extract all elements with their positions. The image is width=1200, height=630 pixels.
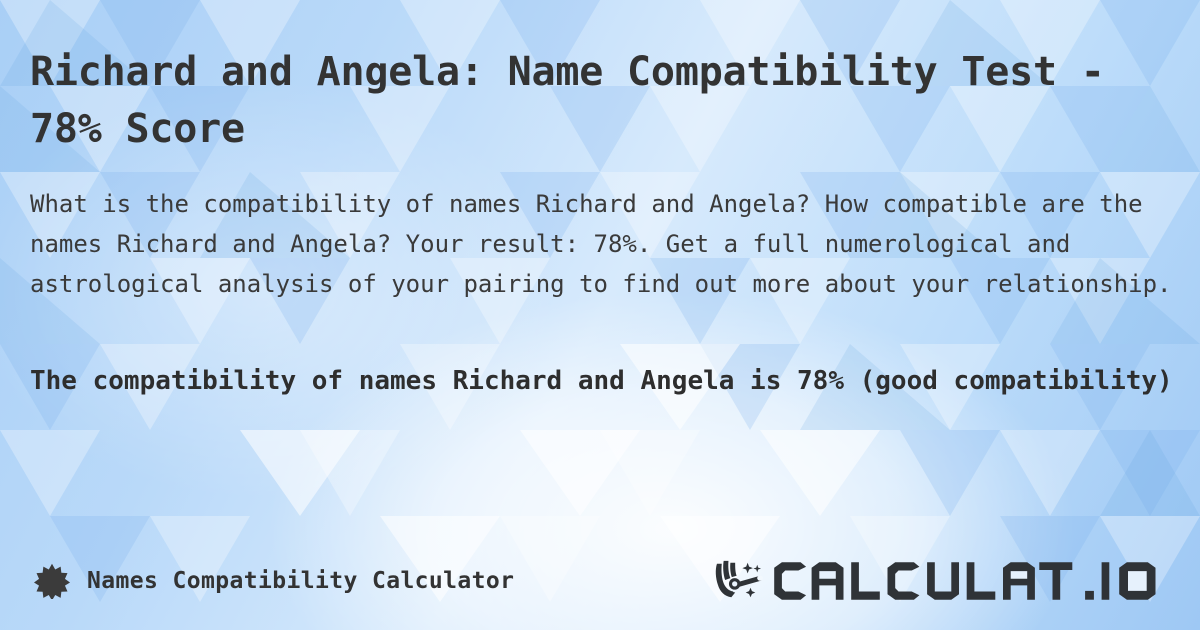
intro-paragraph: What is the compatibility of names Richa…	[30, 184, 1180, 304]
footer-bar: Names Compatibility Calculator	[0, 538, 1200, 630]
page-title: Richard and Angela: Name Compatibility T…	[30, 44, 1170, 158]
calculatio-wordmark-suffix	[1084, 559, 1167, 603]
hand-magic-wand-icon	[710, 558, 768, 604]
result-statement: The compatibility of names Richard and A…	[30, 357, 1180, 405]
starburst-icon	[34, 563, 70, 599]
brand-name-label: Names Compatibility Calculator	[87, 568, 514, 594]
calculatio-wordmark	[772, 559, 1080, 603]
site-logo[interactable]	[710, 558, 1167, 604]
brand-block[interactable]: Names Compatibility Calculator	[34, 563, 514, 599]
